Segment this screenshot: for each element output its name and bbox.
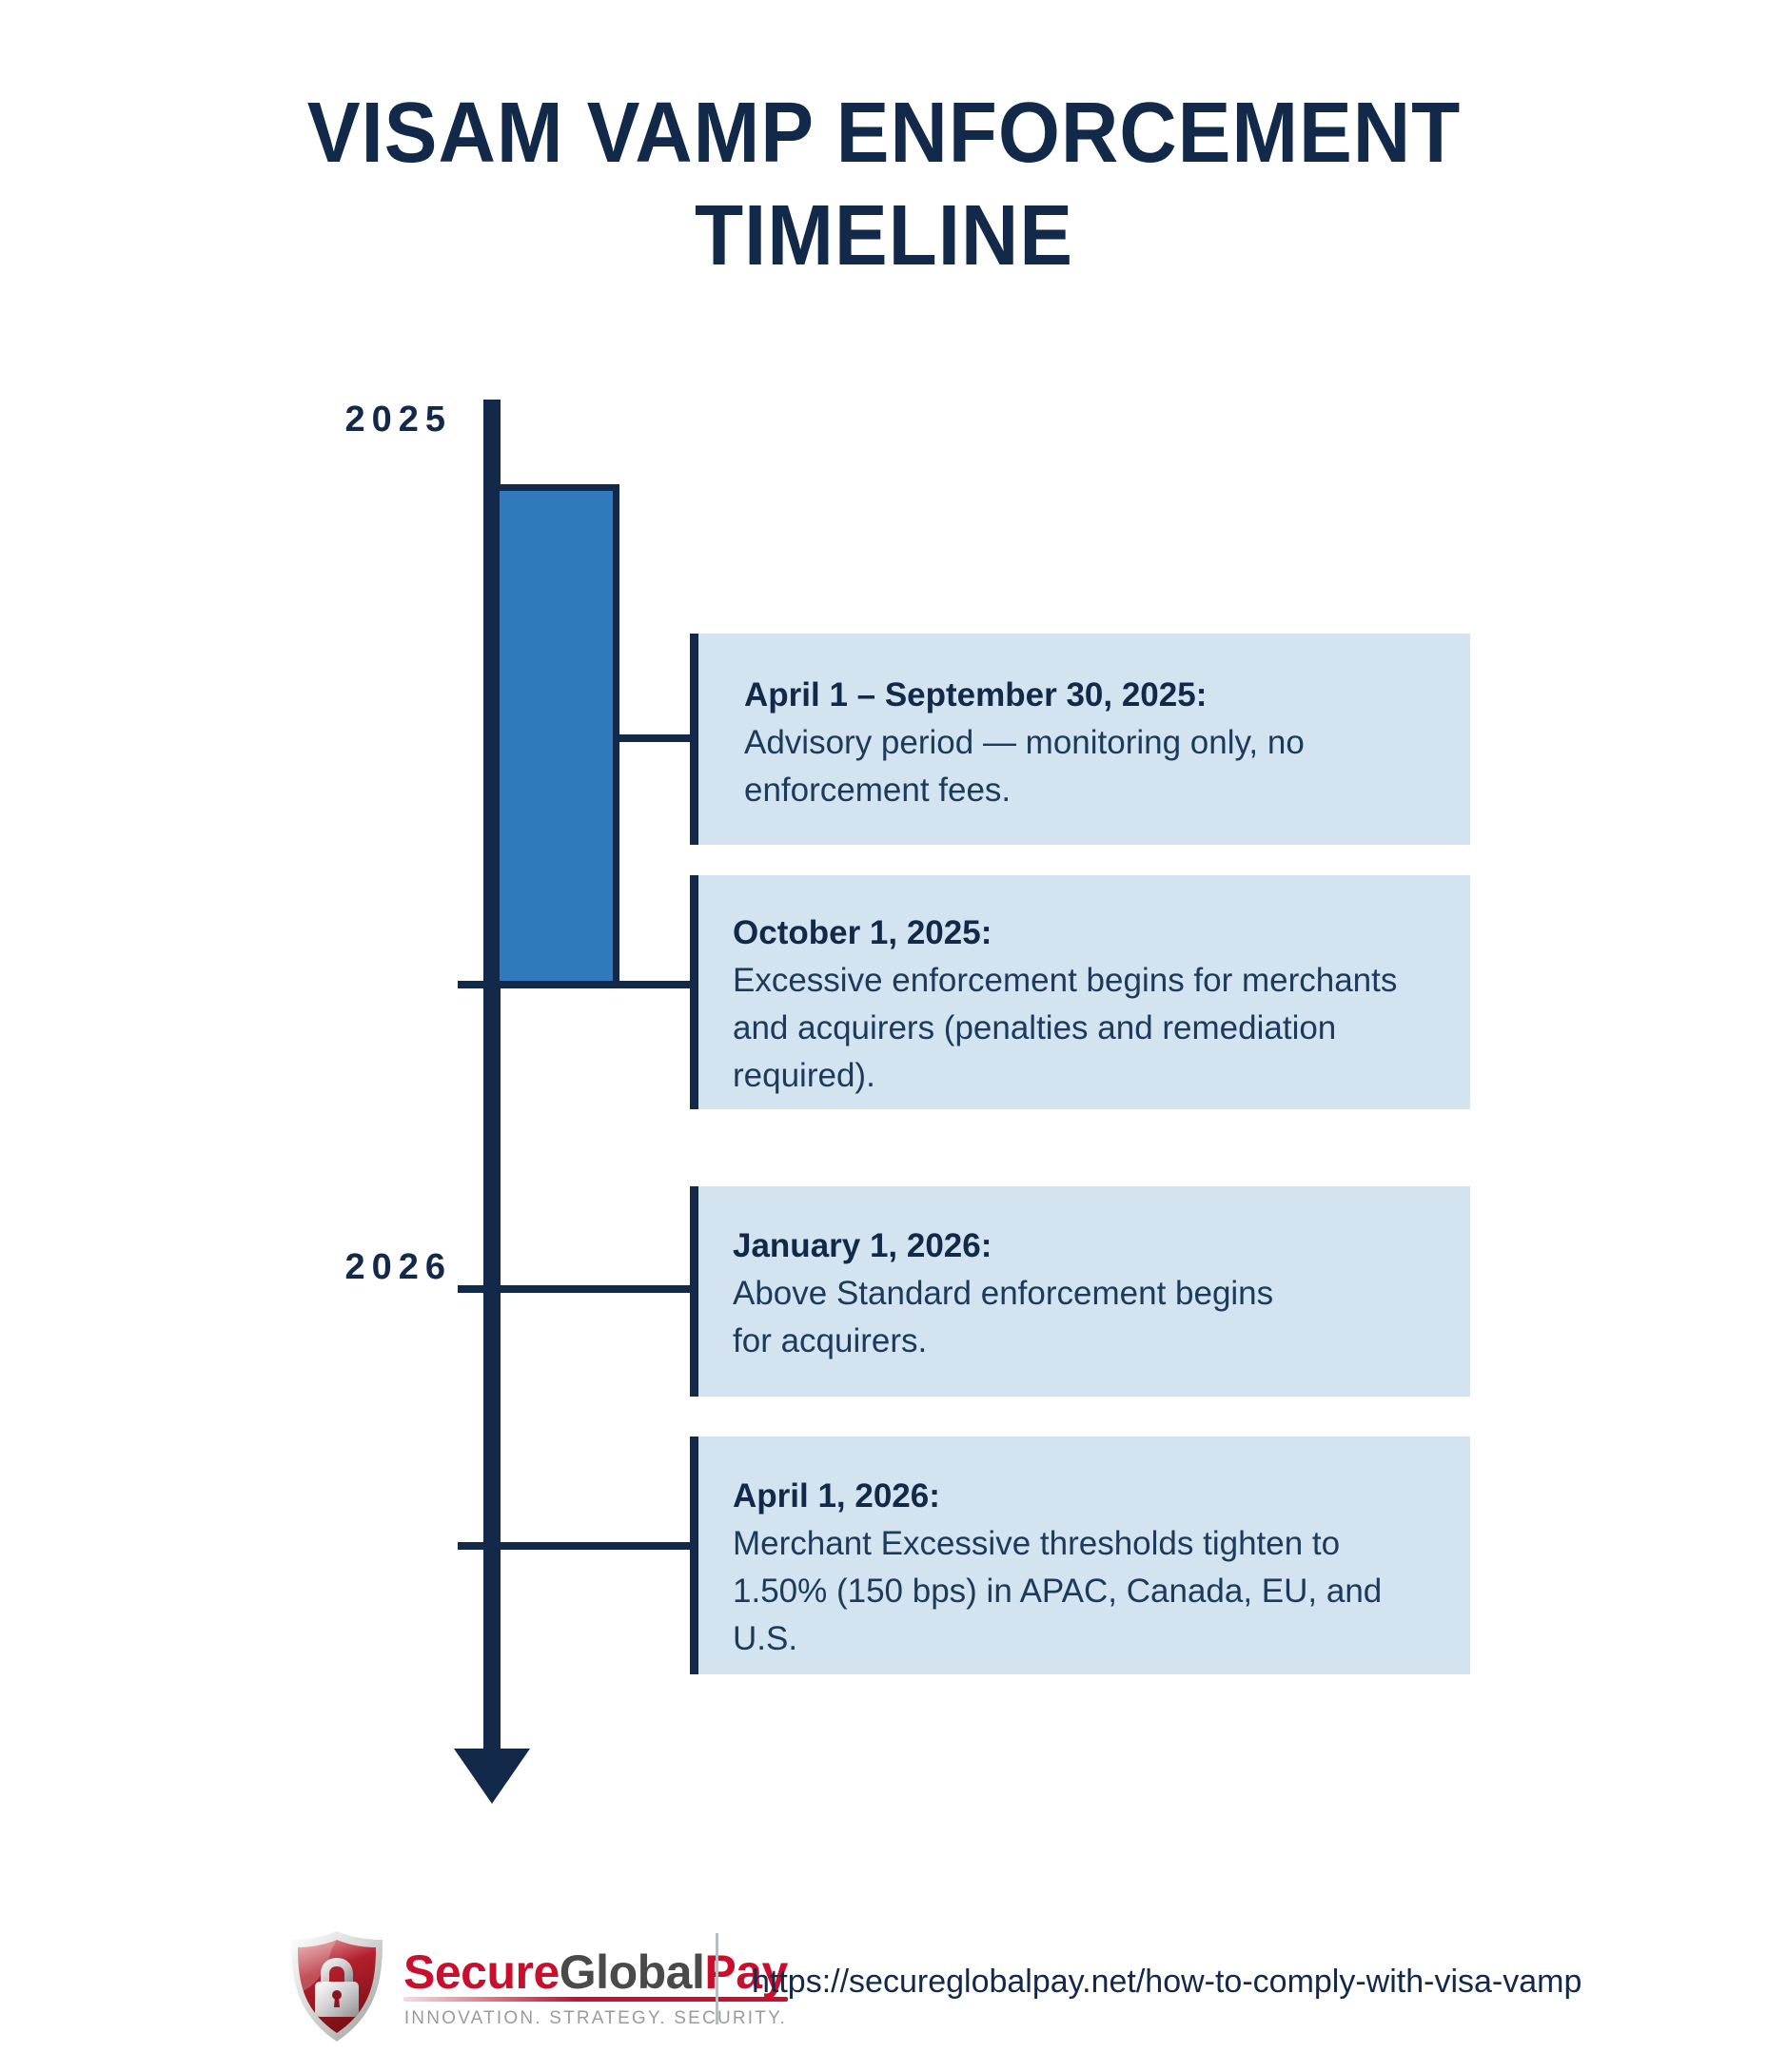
brand-logo[interactable]: SecureGlobalPay INNOVATION. STRATEGY. SE… (285, 1929, 788, 2043)
event-date: January 1, 2026: (733, 1222, 1280, 1270)
connector-event-4 (493, 1542, 695, 1550)
timeline-arrow-icon (454, 1749, 530, 1804)
event-date: April 1 – September 30, 2025: (744, 672, 1447, 719)
connector-event-3 (493, 1285, 695, 1293)
advisory-period-bar (493, 484, 619, 987)
event-description: Above Standard enforcement begins for ac… (733, 1270, 1280, 1365)
logo-word-global: Global (560, 1945, 705, 1999)
logo-wordmark: SecureGlobalPay (403, 1945, 788, 1999)
footer-divider (716, 1933, 718, 2024)
connector-event-1 (613, 734, 695, 742)
infographic-page: VISAM VAMP ENFORCEMENT TIMELINE 2025 202… (0, 0, 1768, 2072)
footer-url[interactable]: https://secureglobalpay.net/how-to-compl… (752, 1962, 1581, 2002)
timeline-event-card: October 1, 2025: Excessive enforcement b… (690, 875, 1470, 1109)
logo-word-secure: Secure (403, 1945, 560, 1999)
event-date: April 1, 2026: (733, 1473, 1385, 1520)
timeline-graphic: 2025 2026 April 1 – September 30, 2025: … (0, 0, 1768, 2072)
timeline-event-card: April 1, 2026: Merchant Excessive thresh… (690, 1437, 1470, 1674)
timeline-event-card: April 1 – September 30, 2025: Advisory p… (690, 634, 1470, 845)
event-description: Merchant Excessive thresholds tighten to… (733, 1520, 1385, 1663)
event-description: Excessive enforcement begins for merchan… (733, 957, 1447, 1100)
timeline-event-card: January 1, 2026: Above Standard enforcem… (690, 1186, 1470, 1397)
logo-tagline: INNOVATION. STRATEGY. SECURITY. (403, 2008, 788, 2029)
year-label-2025: 2025 (205, 400, 452, 440)
footer: SecureGlobalPay INNOVATION. STRATEGY. SE… (0, 1922, 1768, 2055)
event-description: Advisory period — monitoring only, no en… (744, 719, 1447, 814)
year-label-2026: 2026 (205, 1247, 452, 1288)
shield-padlock-icon (285, 1929, 388, 2043)
event-date: October 1, 2025: (733, 909, 1447, 957)
connector-event-2 (493, 981, 695, 988)
logo-wordmark-block: SecureGlobalPay INNOVATION. STRATEGY. SE… (403, 1945, 788, 2029)
